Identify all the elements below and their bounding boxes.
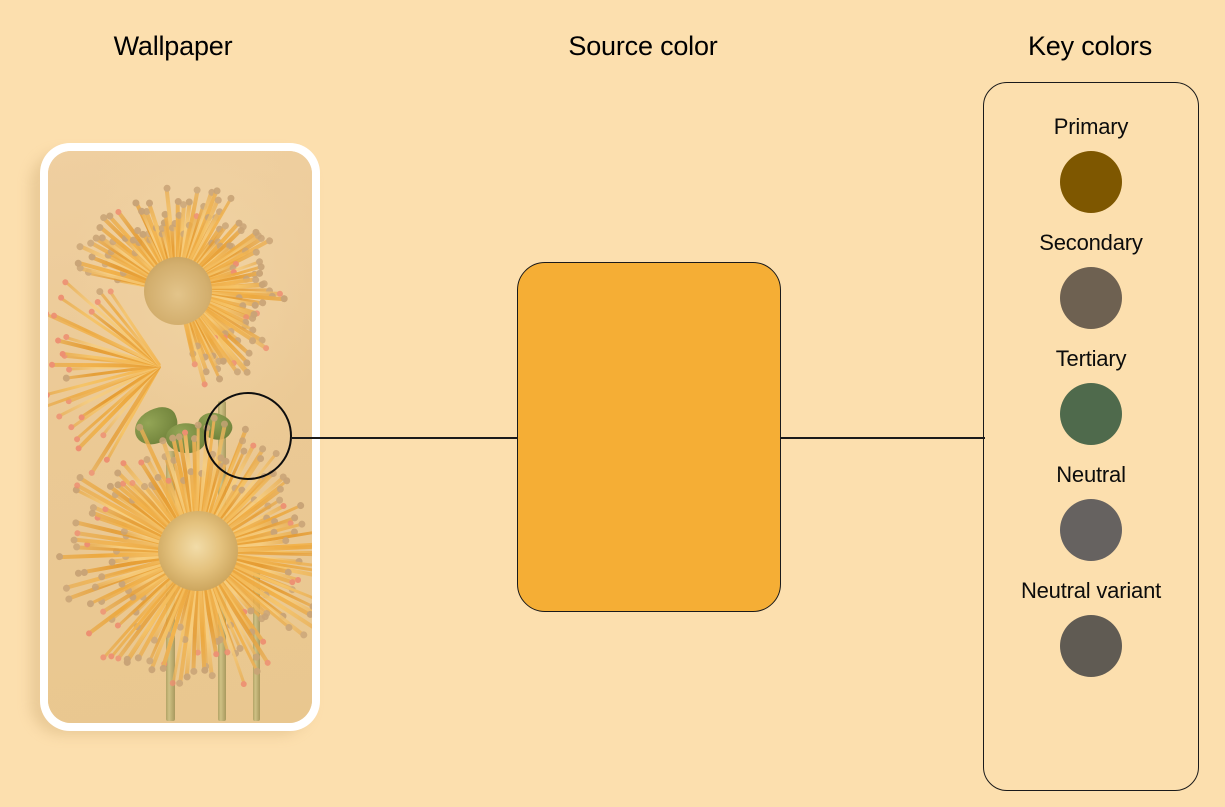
key-color-swatch: [1060, 267, 1122, 329]
key-color-swatch: [1060, 383, 1122, 445]
connector-wallpaper-to-source: [292, 437, 520, 439]
key-color-swatch: [1060, 615, 1122, 677]
key-colors-panel: PrimarySecondaryTertiaryNeutralNeutral v…: [983, 82, 1199, 791]
key-color-label: Neutral: [1056, 462, 1126, 488]
key-color-label: Tertiary: [1056, 346, 1127, 372]
key-colors-column-heading: Key colors: [1028, 31, 1152, 62]
connector-source-to-key-colors: [780, 437, 985, 439]
wallpaper-column-heading: Wallpaper: [114, 31, 233, 62]
source-color-column-heading: Source color: [568, 31, 717, 62]
key-colors-list: PrimarySecondaryTertiaryNeutralNeutral v…: [984, 83, 1198, 790]
key-color-label: Secondary: [1039, 230, 1142, 256]
key-color-row: Neutral variant: [1021, 578, 1161, 677]
color-extraction-diagram: Wallpaper Source color Key colors Primar…: [0, 0, 1225, 807]
key-color-row: Secondary: [1039, 230, 1142, 329]
key-color-label: Neutral variant: [1021, 578, 1161, 604]
source-color-sample-circle-icon: [204, 392, 292, 480]
key-color-row: Neutral: [1056, 462, 1126, 561]
source-color-swatch: [517, 262, 781, 612]
protea-flower-core: [158, 511, 238, 591]
key-color-row: Tertiary: [1056, 346, 1127, 445]
key-color-row: Primary: [1054, 114, 1128, 213]
protea-flower-core: [125, 330, 196, 401]
key-color-swatch: [1060, 499, 1122, 561]
key-color-swatch: [1060, 151, 1122, 213]
key-color-label: Primary: [1054, 114, 1128, 140]
